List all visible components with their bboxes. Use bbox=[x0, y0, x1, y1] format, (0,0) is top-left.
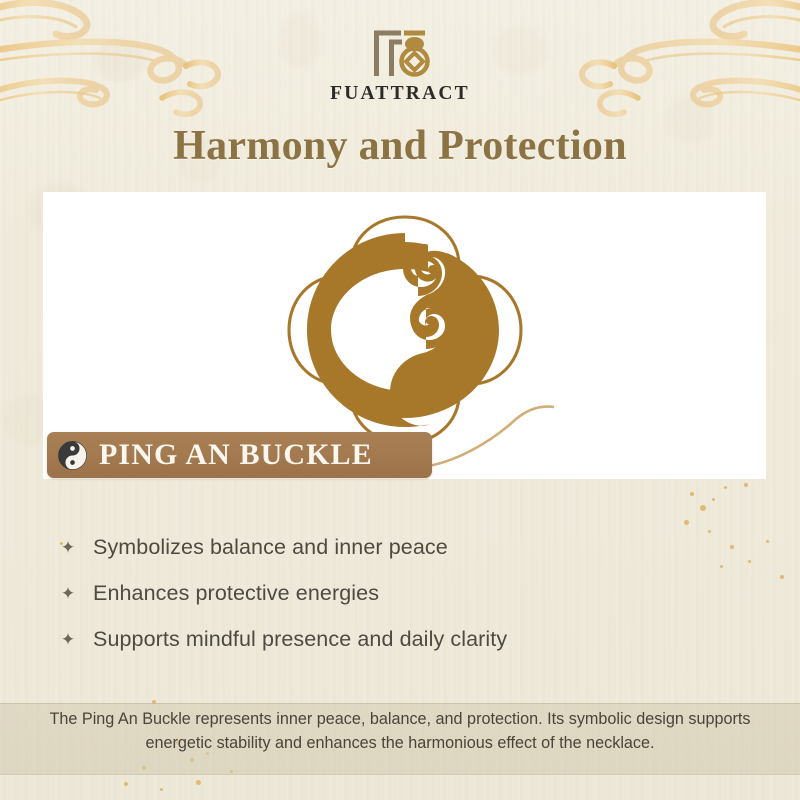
fuattract-seal-icon bbox=[369, 26, 431, 80]
list-item-label: Symbolizes balance and inner peace bbox=[93, 535, 448, 560]
ping-an-buckle-ribbon: PING AN BUCKLE bbox=[47, 432, 432, 478]
list-item-label: Supports mindful presence and daily clar… bbox=[93, 627, 507, 652]
four-point-sparkle-icon: ✦ bbox=[58, 539, 78, 556]
list-item: ✦ Supports mindful presence and daily cl… bbox=[58, 616, 698, 662]
four-point-sparkle-icon: ✦ bbox=[58, 631, 78, 648]
brand-wordmark: FUATTRACT bbox=[0, 83, 800, 105]
product-info-card: FUATTRACT Harmony and Protection bbox=[0, 0, 800, 800]
yin-yang-icon bbox=[58, 441, 87, 470]
list-item: ✦ Symbolizes balance and inner peace bbox=[58, 524, 698, 570]
ping-an-buckle-quatrefoil-icon bbox=[259, 211, 551, 461]
list-item-label: Enhances protective energies bbox=[93, 581, 379, 606]
caption-text: The Ping An Buckle represents inner peac… bbox=[18, 708, 782, 755]
brand-logo: FUATTRACT bbox=[0, 26, 800, 105]
ribbon-label: PING AN BUCKLE bbox=[99, 438, 373, 472]
four-point-sparkle-icon: ✦ bbox=[58, 585, 78, 602]
benefits-list: ✦ Symbolizes balance and inner peace ✦ E… bbox=[58, 524, 698, 662]
page-title: Harmony and Protection bbox=[0, 122, 800, 170]
list-item: ✦ Enhances protective energies bbox=[58, 570, 698, 616]
